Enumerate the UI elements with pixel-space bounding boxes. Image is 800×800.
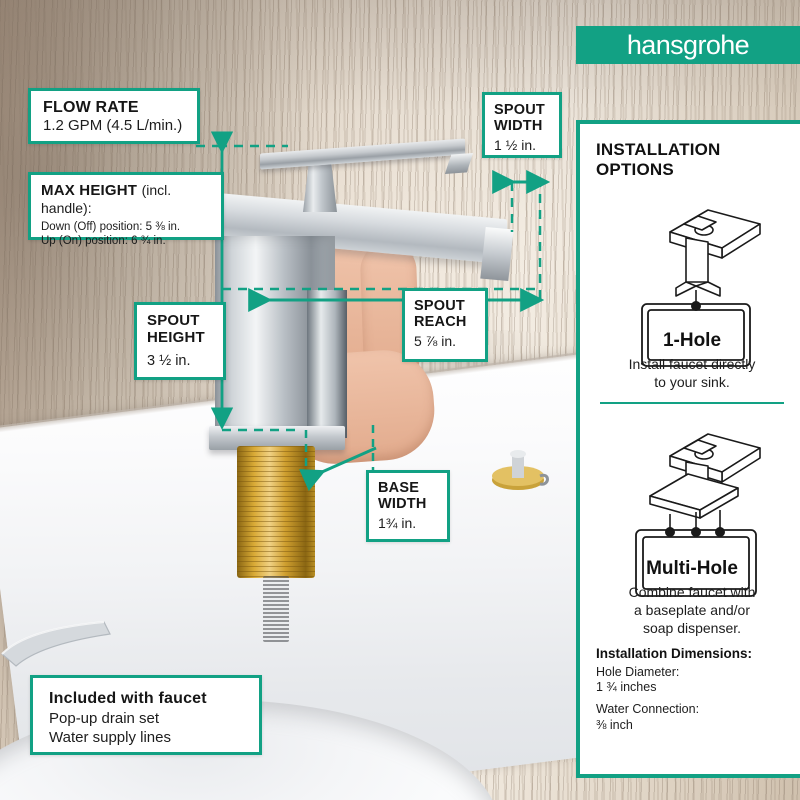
flow-rate-value: 1.2 GPM (4.5 L/min.) xyxy=(43,117,185,136)
callout-max-height: MAX HEIGHT (incl. handle): Down (Off) po… xyxy=(28,172,224,240)
hole-diameter-value: 1 ¾ inches xyxy=(596,680,788,696)
max-height-title: MAX HEIGHT xyxy=(41,182,137,199)
panel-divider xyxy=(600,402,784,404)
max-height-down-line: Down (Off) position: 5 ⅜ in. xyxy=(41,221,211,233)
installation-options-panel: INSTALLATION OPTIONS xyxy=(576,120,800,778)
spout-height-value: 3 ½ in. xyxy=(147,352,213,370)
base-width-title-line1: BASE xyxy=(378,480,438,496)
base-width-title-line2: WIDTH xyxy=(378,496,438,512)
callout-base-width: BASE WIDTH 1¾ in. xyxy=(366,470,450,542)
option-multi-hole-name: Multi-Hole xyxy=(596,558,788,580)
panel-heading-line1: INSTALLATION xyxy=(596,140,721,159)
installation-dimensions: Installation Dimensions: Hole Diameter: … xyxy=(596,646,788,734)
panel-heading: INSTALLATION OPTIONS xyxy=(596,140,788,180)
option-multi-hole-desc-line1: Combine faucet with xyxy=(596,584,788,602)
installation-dimensions-heading: Installation Dimensions: xyxy=(596,646,788,661)
one-hole-diagram xyxy=(596,186,796,326)
base-width-value: 1¾ in. xyxy=(378,515,438,533)
spout-reach-title-line2: REACH xyxy=(414,314,476,330)
spout-height-title-line2: HEIGHT xyxy=(147,330,213,347)
option-1-hole-name: 1-Hole xyxy=(596,330,788,352)
water-connection-value: ⅜ inch xyxy=(596,718,788,734)
callout-flow-rate: FLOW RATE 1.2 GPM (4.5 L/min.) xyxy=(28,88,200,144)
flow-rate-title: FLOW RATE xyxy=(43,99,185,117)
infographic-canvas: FLOW RATE 1.2 GPM (4.5 L/min.) MAX HEIGH… xyxy=(0,0,800,800)
included-item-1: Water supply lines xyxy=(49,729,243,748)
option-1-hole-desc-line1: Install faucet directly xyxy=(596,356,788,374)
callout-spout-width: SPOUT WIDTH 1 ½ in. xyxy=(482,92,562,158)
option-1-hole-desc-line2: to your sink. xyxy=(596,374,788,392)
included-item-0: Pop-up drain set xyxy=(49,710,243,729)
option-1-hole: 1-Hole Install faucet directly to your s… xyxy=(596,186,788,392)
callout-spout-reach: SPOUT REACH 5 ⅞ in. xyxy=(402,288,488,362)
option-multi-hole-desc-line2: a baseplate and/or xyxy=(596,602,788,620)
hole-diameter-label: Hole Diameter: xyxy=(596,665,788,681)
spout-width-value: 1 ½ in. xyxy=(494,137,550,155)
hansgrohe-logo-text: hansgrohe xyxy=(627,30,749,61)
water-connection-label: Water Connection: xyxy=(596,702,788,718)
callout-spout-height: SPOUT HEIGHT 3 ½ in. xyxy=(134,302,226,380)
max-height-up-line: Up (On) position: 6 ¾ in. xyxy=(41,235,211,247)
spout-reach-title-line1: SPOUT xyxy=(414,298,476,314)
spout-height-title-line1: SPOUT xyxy=(147,313,213,330)
option-multi-hole-desc-line3: soap dispenser. xyxy=(596,620,788,638)
spout-reach-value: 5 ⅞ in. xyxy=(414,333,476,351)
spout-width-title-line1: SPOUT xyxy=(494,102,550,118)
spout-width-title-line2: WIDTH xyxy=(494,118,550,134)
multi-hole-diagram xyxy=(596,414,796,554)
panel-heading-line2: OPTIONS xyxy=(596,160,674,179)
callout-included-with-faucet: Included with faucet Pop-up drain set Wa… xyxy=(30,675,262,755)
option-multi-hole: Multi-Hole Combine faucet with a basepla… xyxy=(596,414,788,638)
included-title: Included with faucet xyxy=(49,690,243,708)
hansgrohe-logo: hansgrohe xyxy=(576,26,800,64)
